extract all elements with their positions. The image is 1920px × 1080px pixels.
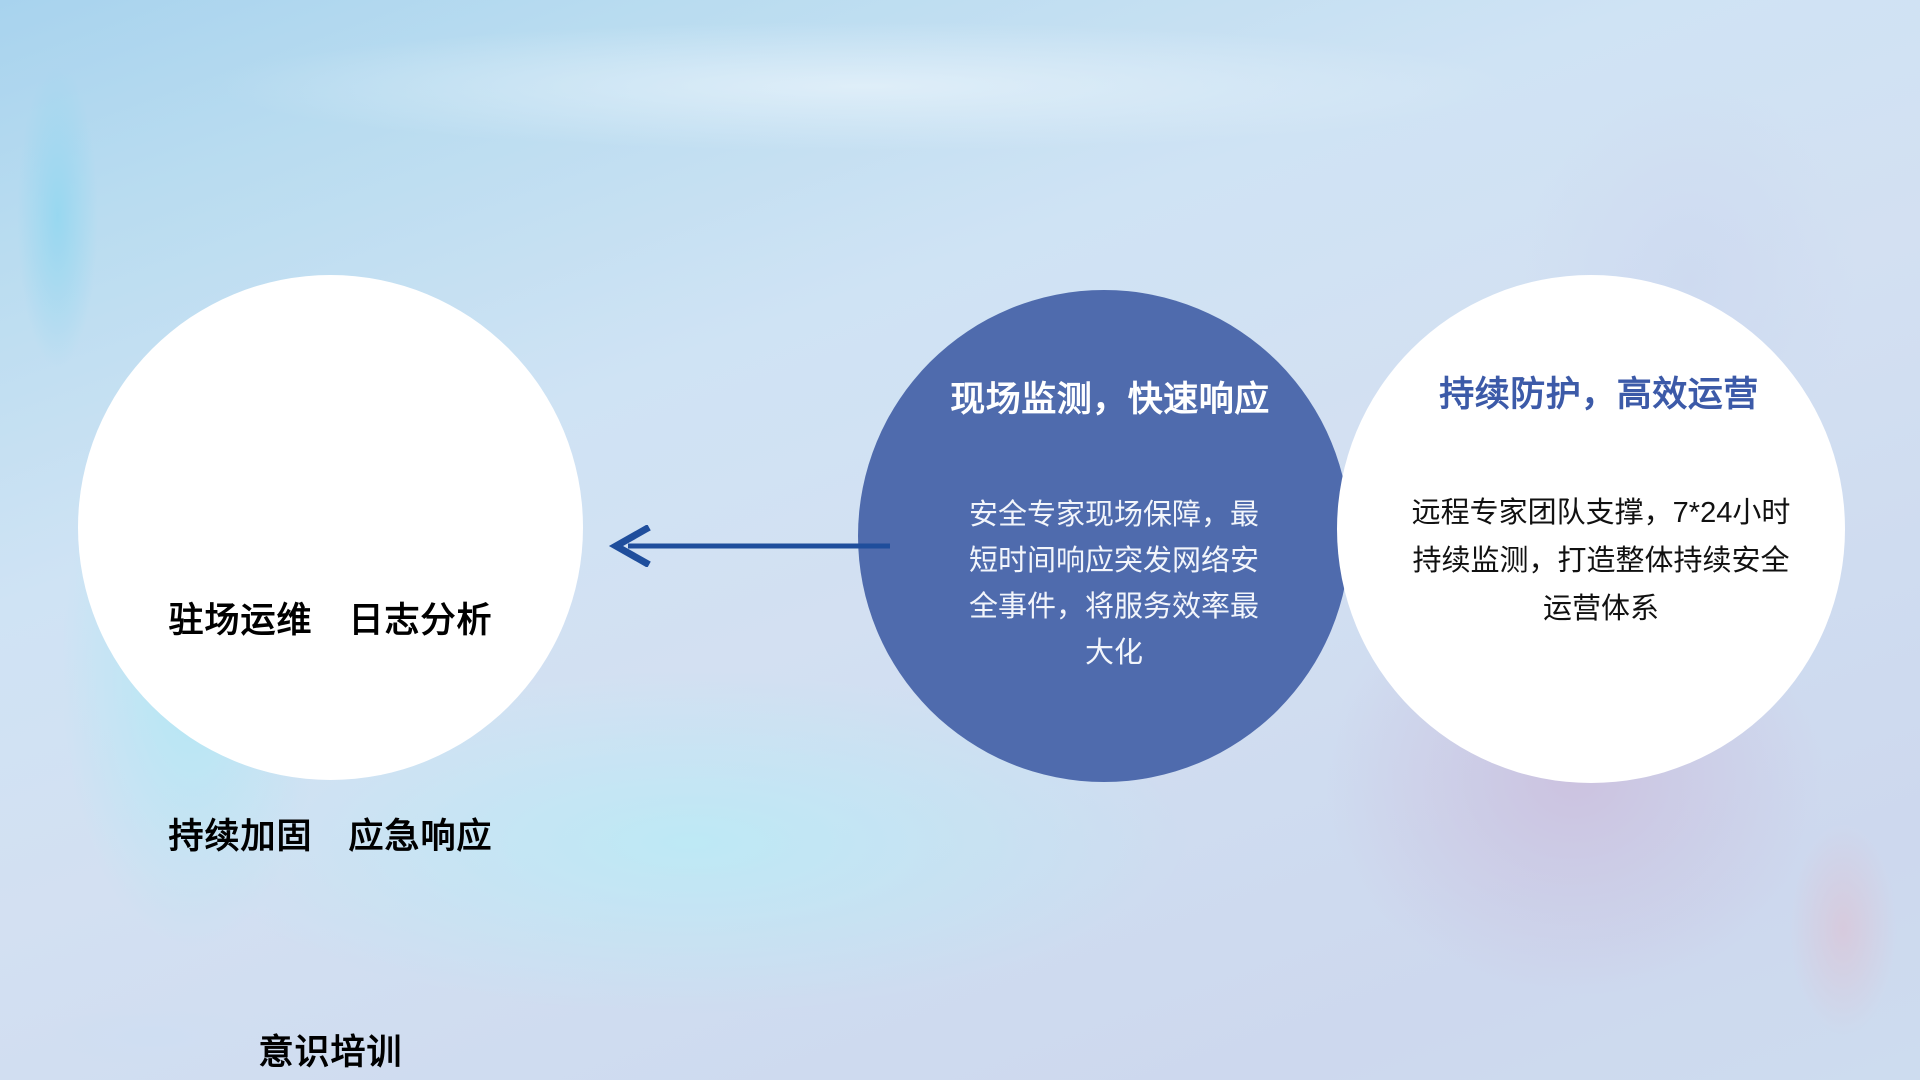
left-keyword-line-3: 意识培训 xyxy=(168,1017,492,1080)
left-keyword-line-1: 驻场运维 日志分析 xyxy=(168,585,492,657)
left-keyword-list: 驻场运维 日志分析 持续加固 应急响应 意识培训 xyxy=(168,441,492,1080)
middle-circle-shape[interactable] xyxy=(858,290,1350,782)
left-circle-content: 驻场运维 日志分析 持续加固 应急响应 意识培训 xyxy=(78,275,583,780)
left-keyword-line-2: 持续加固 应急响应 xyxy=(168,801,492,873)
arrow-left-icon xyxy=(600,525,890,567)
slide-canvas: 驻场运维 日志分析 持续加固 应急响应 意识培训 现场监测，快速响应 安全专家现… xyxy=(0,0,1920,1080)
right-circle-shape[interactable] xyxy=(1337,275,1845,783)
